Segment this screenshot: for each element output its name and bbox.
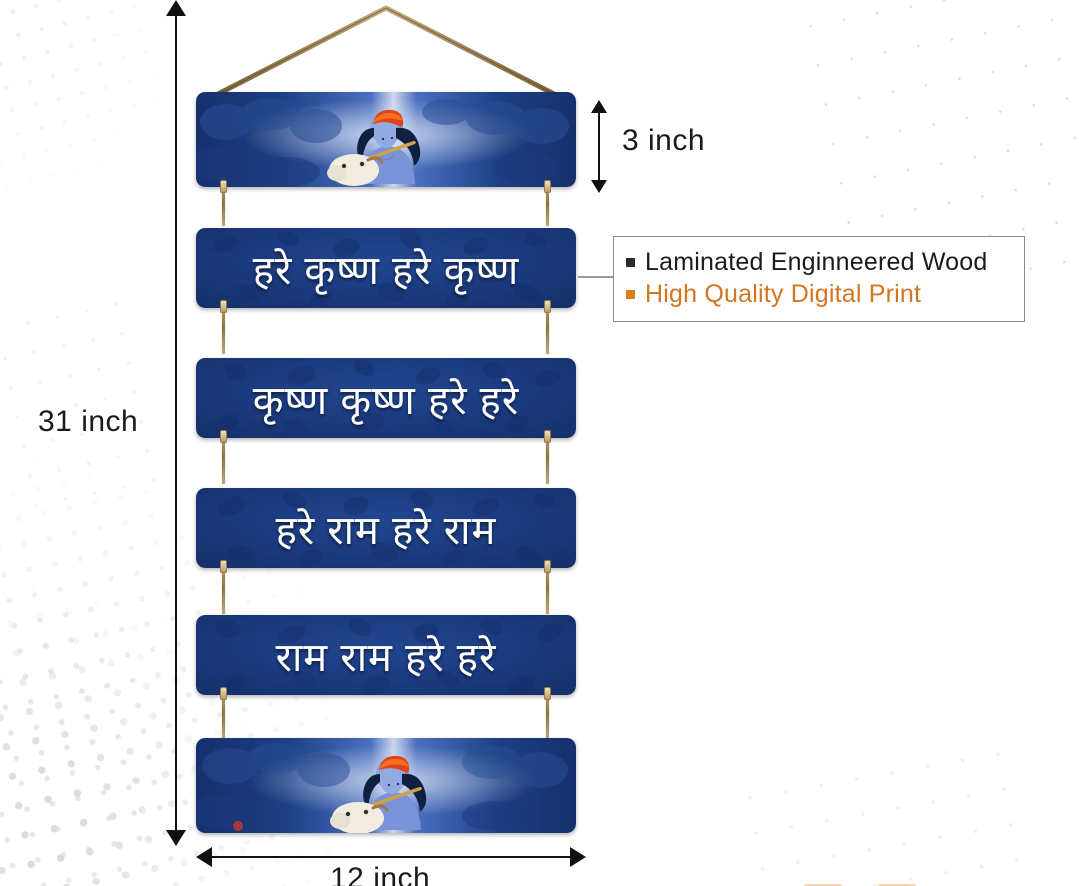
string-peg bbox=[544, 300, 551, 313]
halftone-dots-top-left bbox=[0, 0, 224, 214]
callout-item: High Quality Digital Print bbox=[626, 278, 1012, 310]
connector-string bbox=[546, 566, 549, 614]
plank-mantra-4: राम राम हरे हरे bbox=[196, 615, 576, 695]
connector-string bbox=[546, 306, 549, 354]
height-arrow-bottom bbox=[166, 830, 186, 846]
bullet-square-icon bbox=[626, 290, 635, 299]
string-peg bbox=[544, 560, 551, 573]
width-dimension-label: 12 inch bbox=[330, 862, 430, 886]
height-dimension-line bbox=[175, 14, 177, 832]
string-peg bbox=[220, 300, 227, 313]
height-arrow-top bbox=[166, 0, 186, 16]
mantra-text: हरे कृष्ण हरे कृष्ण bbox=[196, 228, 576, 308]
connector-string bbox=[222, 436, 225, 484]
plank-height-arrow-bottom bbox=[591, 180, 607, 193]
halftone-dots-bottom-right bbox=[729, 731, 1049, 886]
bullet-square-icon bbox=[626, 258, 635, 267]
connector-string bbox=[546, 436, 549, 484]
callout-item-label: Laminated Enginneered Wood bbox=[645, 246, 987, 278]
callout-leader-line bbox=[578, 276, 614, 278]
krishna-flute-cow-illustration bbox=[196, 92, 576, 187]
callout-item: Laminated Enginneered Wood bbox=[626, 246, 1012, 278]
string-peg bbox=[544, 180, 551, 193]
string-peg bbox=[544, 687, 551, 700]
string-peg bbox=[220, 560, 227, 573]
plank-height-arrow-top bbox=[591, 100, 607, 113]
orange-clipped-element-bottom-right bbox=[799, 878, 929, 886]
mantra-text: कृष्ण कृष्ण हरे हरे bbox=[196, 358, 576, 438]
plank-mantra-1: हरे कृष्ण हरे कृष्ण bbox=[196, 228, 576, 308]
hanging-rope bbox=[196, 0, 586, 100]
string-peg bbox=[220, 430, 227, 443]
string-peg bbox=[220, 180, 227, 193]
height-dimension-label: 31 inch bbox=[38, 405, 138, 439]
krishna-flute-cow-illustration bbox=[196, 738, 576, 833]
callout-item-label: High Quality Digital Print bbox=[645, 278, 921, 310]
string-peg bbox=[220, 687, 227, 700]
plank-top-image bbox=[196, 92, 576, 187]
plank-bottom-image bbox=[196, 738, 576, 833]
string-peg bbox=[544, 430, 551, 443]
connector-string bbox=[222, 306, 225, 354]
product-illustration: हरे कृष्ण हरे कृष्ण bbox=[196, 0, 586, 886]
plank-mantra-3: हरे राम हरे राम bbox=[196, 488, 576, 568]
features-callout-box: Laminated Enginneered Wood High Quality … bbox=[613, 236, 1025, 322]
mantra-text: हरे राम हरे राम bbox=[196, 488, 576, 568]
width-arrow-right bbox=[570, 847, 586, 867]
width-arrow-left bbox=[196, 847, 212, 867]
plank-height-dimension-line bbox=[598, 112, 600, 182]
connector-string bbox=[222, 566, 225, 614]
mantra-text: राम राम हरे हरे bbox=[196, 615, 576, 695]
plank-mantra-2: कृष्ण कृष्ण हरे हरे bbox=[196, 358, 576, 438]
width-dimension-line bbox=[208, 856, 578, 858]
plank-height-dimension-label: 3 inch bbox=[622, 124, 705, 158]
